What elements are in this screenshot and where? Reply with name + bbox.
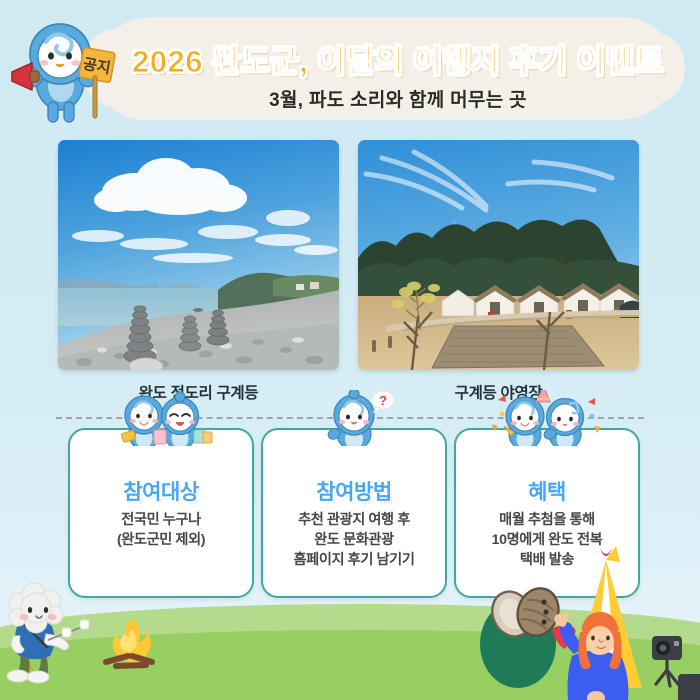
card-title: 혜택 (456, 476, 638, 506)
page-title: 2026 완도군, 이달의 여행지 후기 이벤트 (118, 36, 678, 81)
card-title: 참여방법 (263, 476, 445, 506)
photo-gugyedeung-campsite (358, 140, 639, 370)
sheep-roasting-marshmallow-icon (7, 583, 90, 683)
poster-root: 공지 2026 완도군, 이달의 여행지 후기 이벤트 3월, 파도 소리와 함… (0, 0, 700, 700)
mascot-with-question-bubble-icon: ? (263, 390, 445, 446)
two-mascots-shopping-icon (70, 390, 252, 446)
two-mascots-party-icon (456, 390, 638, 446)
page-subtitle: 3월, 파도 소리와 함께 머무는 곳 (118, 85, 678, 112)
campfire-icon (106, 618, 152, 666)
svg-text:?: ? (379, 393, 387, 408)
camper-with-abalone-icon (480, 546, 682, 700)
question-bubble-icon: ? (372, 391, 394, 413)
card-title: 참여대상 (70, 476, 252, 506)
photo-gugyedeung-beach (58, 140, 339, 370)
header-band: 공지 2026 완도군, 이달의 여행지 후기 이벤트 3월, 파도 소리와 함… (0, 0, 700, 133)
mascot-header-icon: 공지 (8, 18, 118, 130)
corner-badge (678, 674, 700, 700)
bottom-scene (0, 540, 700, 700)
